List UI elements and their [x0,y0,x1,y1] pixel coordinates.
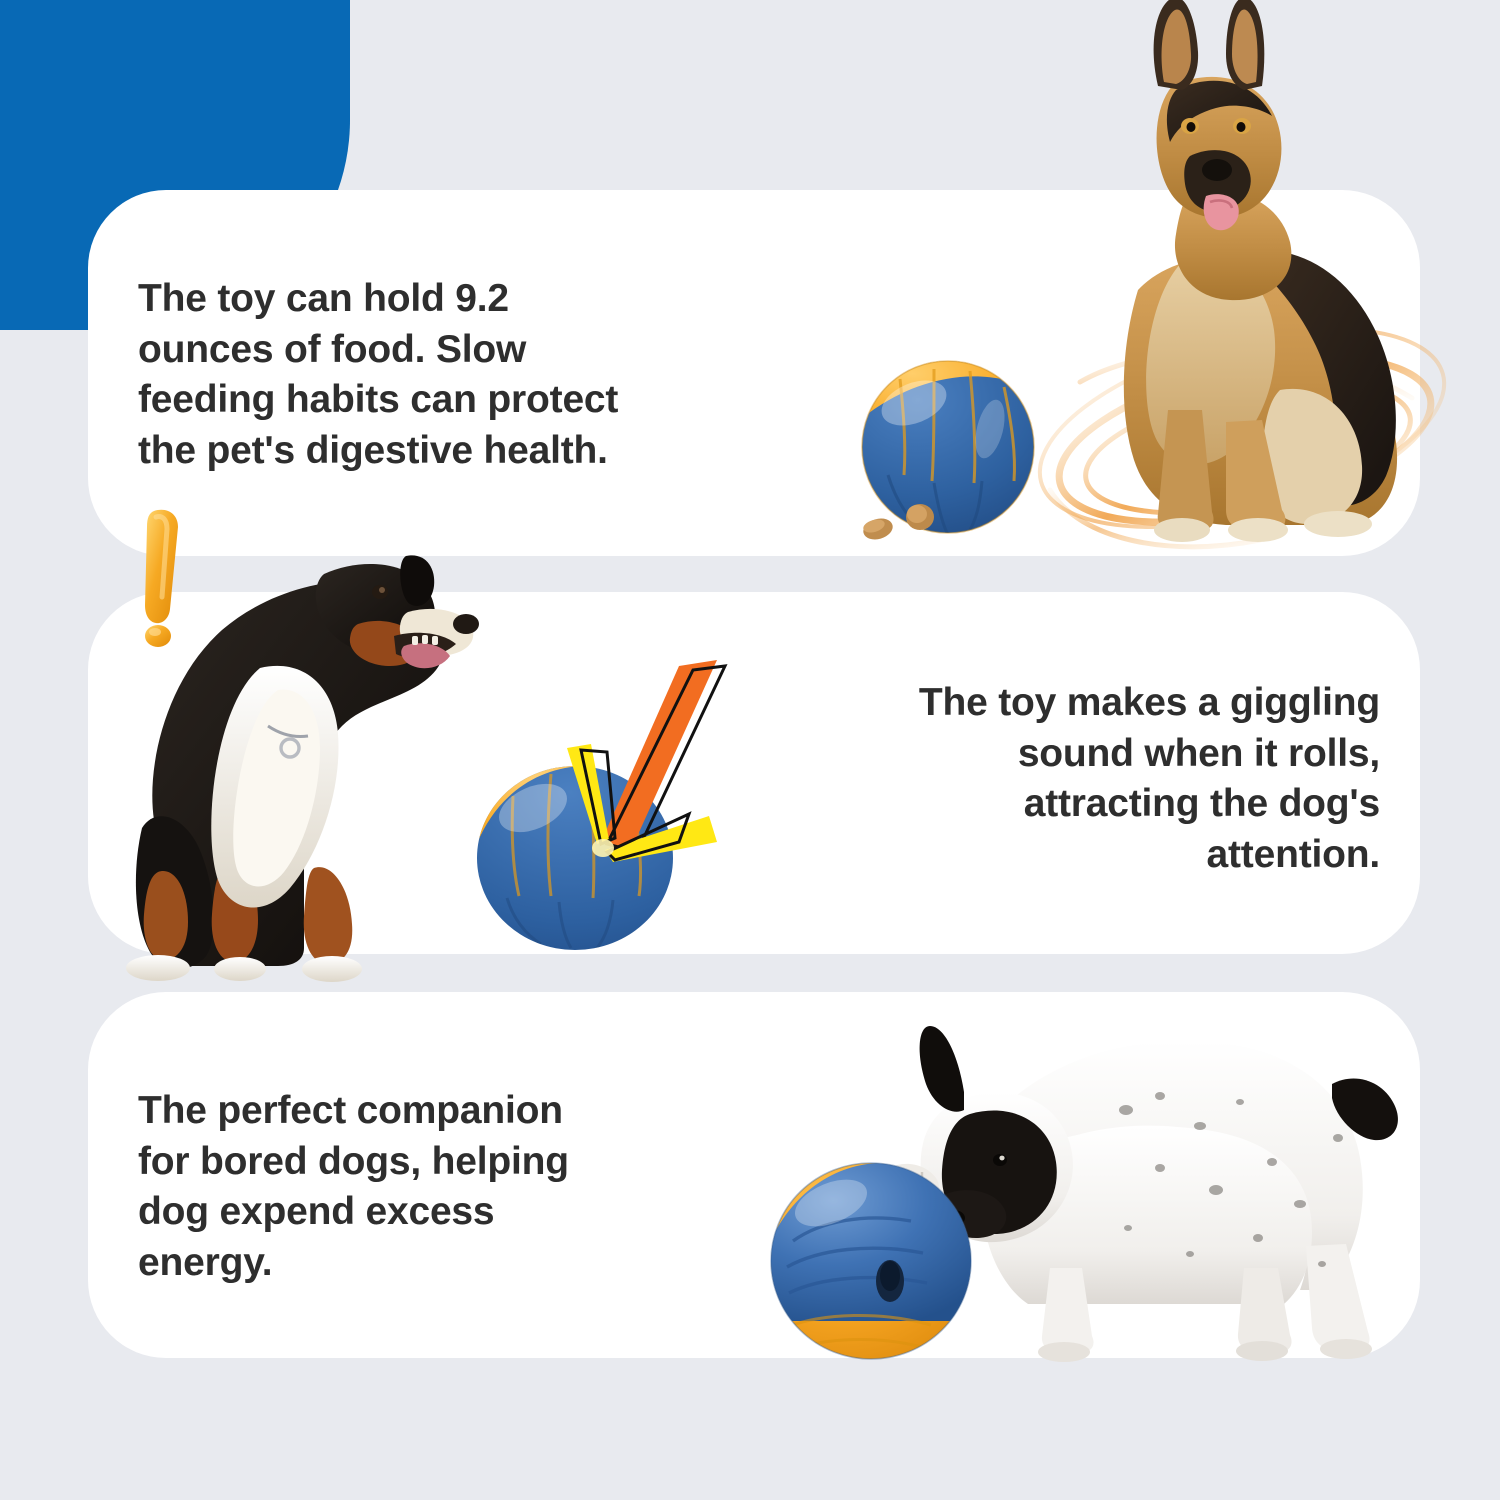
panel-1-description: The toy can hold 9.2 ounces of food. Slo… [138,274,758,477]
panel-3-description: The perfect companion for bored dogs, he… [138,1086,718,1289]
panel-2-description: The toy makes a giggling sound when it r… [760,678,1380,881]
infographic-canvas: The toy can hold 9.2 ounces of food. Slo… [0,0,1500,1500]
